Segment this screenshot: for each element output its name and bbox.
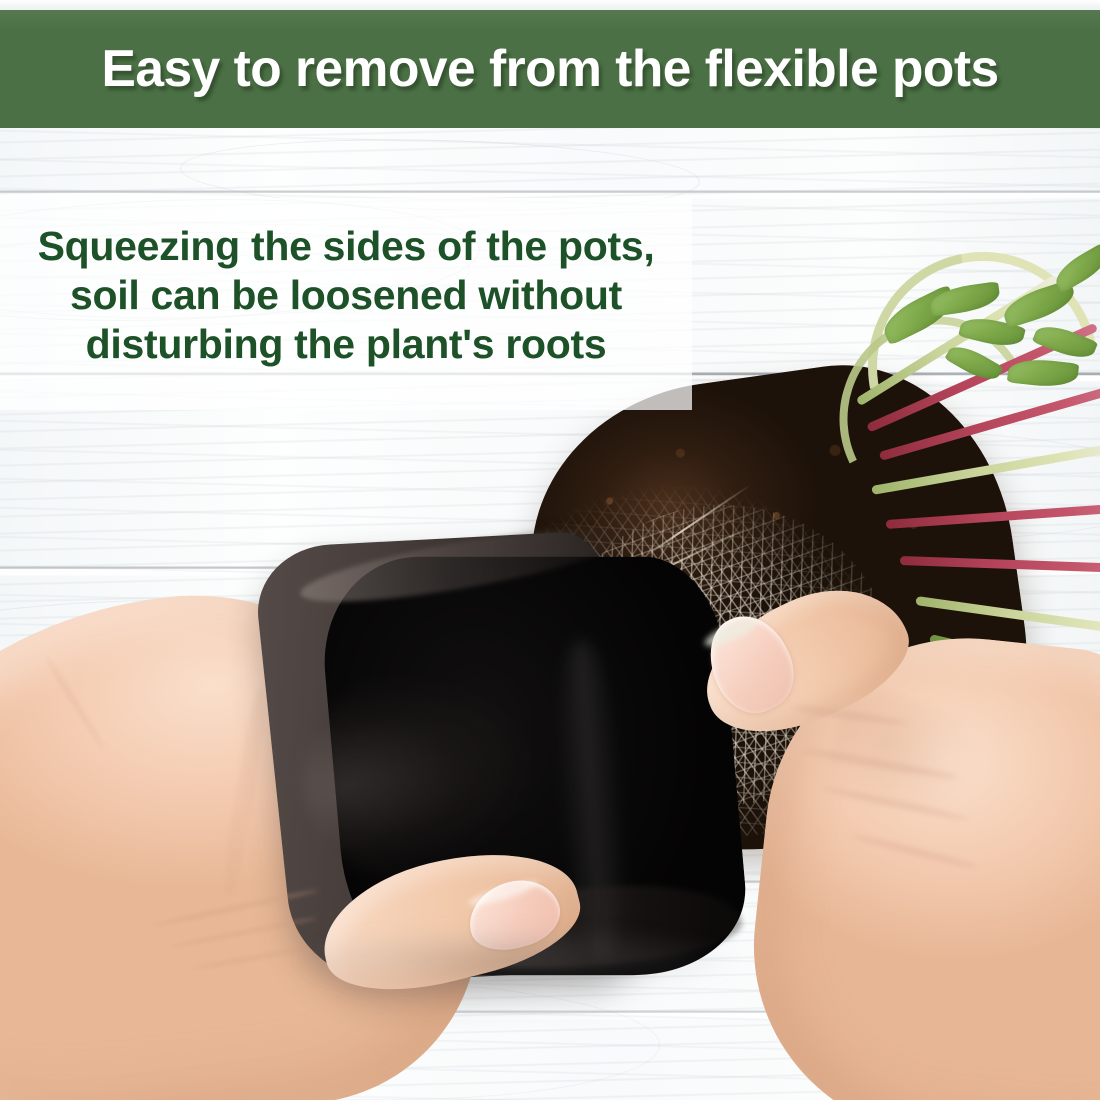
product-photo (0, 0, 1100, 1100)
caption-line-3: disturbing the plant's roots (26, 320, 666, 369)
pot-contact-shadow (300, 930, 730, 990)
caption-text: Squeezing the sides of the pots, soil ca… (0, 222, 692, 369)
seedling-leaf (1050, 243, 1100, 294)
caption-line-1: Squeezing the sides of the pots, (26, 222, 666, 271)
caption-line-2: soil can be loosened without (26, 271, 666, 320)
header-banner: Easy to remove from the flexible pots (0, 10, 1100, 128)
product-marketing-image: Squeezing the sides of the pots, soil ca… (0, 0, 1100, 1100)
top-white-strip (0, 0, 1100, 10)
page-title: Easy to remove from the flexible pots (101, 43, 998, 95)
